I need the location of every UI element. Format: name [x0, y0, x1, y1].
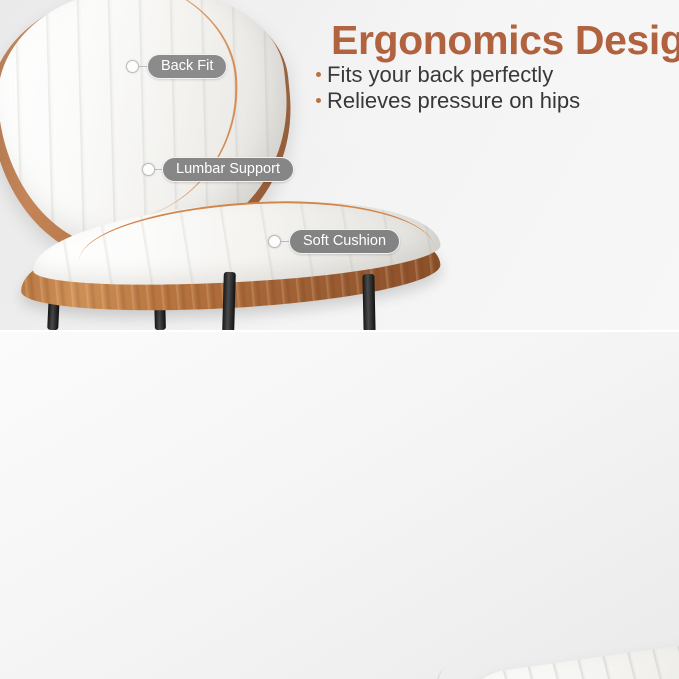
section-divider	[0, 330, 679, 332]
chair-leg-front-right	[362, 274, 375, 331]
callout-soft-cushion: Soft Cushion	[268, 229, 400, 254]
product-infographic-poster: Ergonomics Design Fits your back perfect…	[0, 0, 679, 679]
feature-item: Fits your back perfectly	[316, 62, 580, 88]
callout-leader-line	[139, 66, 147, 68]
section-ergonomics: Ergonomics Design Fits your back perfect…	[0, 0, 679, 331]
callout-back-fit: Back Fit	[126, 54, 227, 79]
callout-label: Soft Cushion	[289, 229, 400, 254]
chair-illustration-comfort	[266, 671, 679, 679]
callout-lumbar-support: Lumbar Support	[142, 157, 294, 182]
feature-list-ergonomics: Fits your back perfectly Relieves pressu…	[316, 62, 580, 114]
callout-leader-line	[281, 241, 289, 243]
section-title-ergonomics: Ergonomics Design	[331, 17, 679, 64]
feature-text: Relieves pressure on hips	[327, 88, 580, 114]
section-comfort: Comfortable & Soft PU leather material I…	[0, 331, 679, 679]
callout-marker-dot-icon	[268, 235, 281, 248]
feature-text: Fits your back perfectly	[327, 62, 553, 88]
feature-item: Relieves pressure on hips	[316, 88, 580, 114]
bullet-dot-icon	[316, 98, 321, 103]
chair-leg-mid-right	[222, 272, 236, 331]
callout-marker-dot-icon	[142, 163, 155, 176]
chair-backrest-edge-highlight	[423, 665, 489, 679]
callout-leader-line	[155, 169, 162, 171]
callout-marker-dot-icon	[126, 60, 139, 73]
callout-label: Lumbar Support	[162, 157, 294, 182]
bullet-dot-icon	[316, 72, 321, 77]
chair-backrest-channel-stitching	[429, 639, 679, 679]
callout-label: Back Fit	[147, 54, 227, 79]
